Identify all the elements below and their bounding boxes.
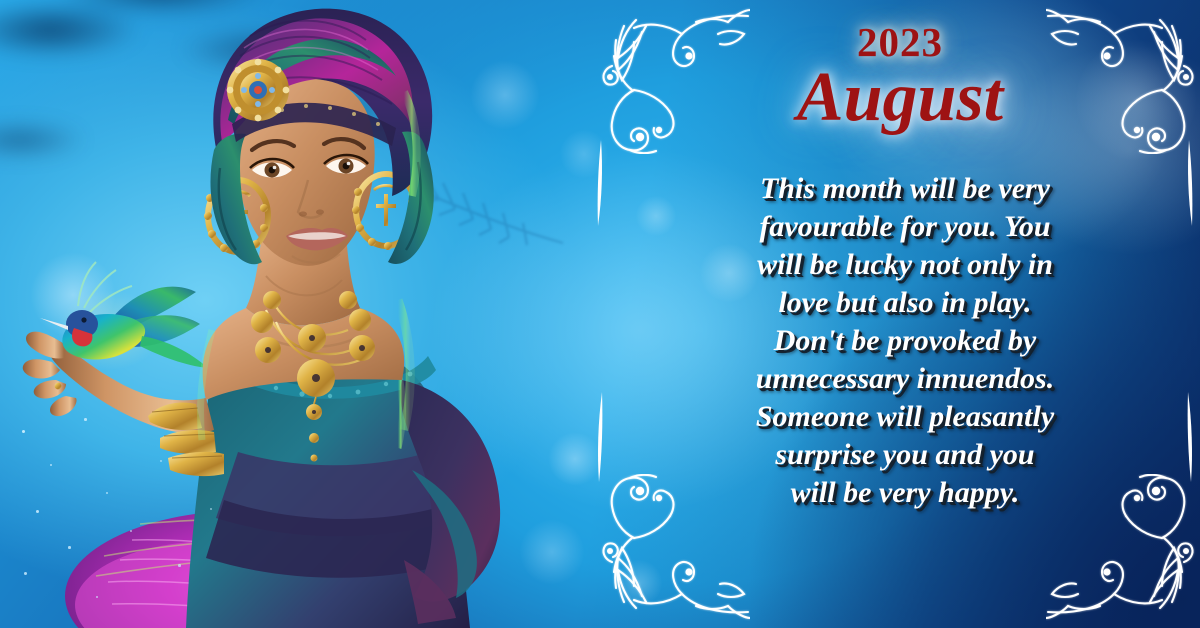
forecast-panel: 2023 August This month will be veryfavou… — [600, 0, 1200, 628]
sparkle-dust — [10, 400, 270, 628]
forecast-line: unnecessary innuendos. — [756, 362, 1054, 395]
forecast-line: will be lucky not only in — [757, 248, 1053, 281]
jeweled-turban-brooch — [227, 59, 290, 122]
forecast-line: This month will be very — [760, 172, 1050, 205]
forecast-line: favourable for you. You — [759, 210, 1050, 243]
month-title: August — [600, 58, 1200, 138]
fortune-teller-illustration — [0, 0, 620, 628]
forecast-line: surprise you and you — [775, 438, 1034, 471]
horoscope-banner: 2023 August This month will be veryfavou… — [0, 0, 1200, 628]
ring — [55, 383, 62, 390]
forecast-line: love but also in play. — [778, 286, 1031, 319]
forecast-line: Someone will pleasantly — [756, 400, 1054, 433]
forecast-text: This month will be veryfavourable for yo… — [672, 170, 1138, 512]
forecast-line: Don't be provoked by — [774, 324, 1036, 357]
forecast-line: will be very happy. — [791, 476, 1020, 509]
